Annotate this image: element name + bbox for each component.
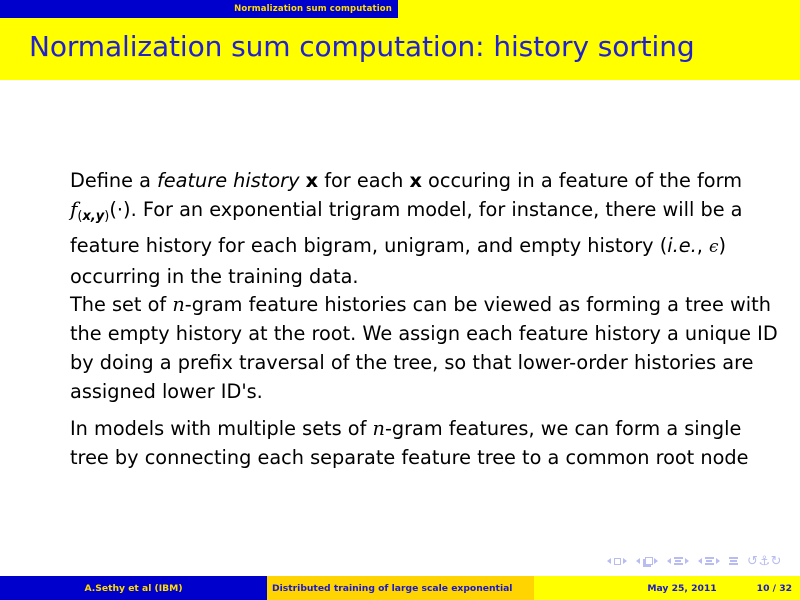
beamer-navigation-symbols[interactable]: ↺⚓↻: [607, 552, 782, 570]
section-icon[interactable]: [705, 557, 714, 565]
p2-prefix: The set of: [70, 293, 172, 316]
slide-icon[interactable]: [614, 558, 621, 565]
p1-prefix: Define a: [70, 169, 157, 192]
headline-bar: Normalization sum computation: [0, 0, 800, 18]
subsection-icon[interactable]: [674, 557, 683, 565]
previous-slide-icon[interactable]: [607, 558, 611, 564]
footer-page-number: 10 / 32: [757, 583, 792, 594]
footer-date: May 25, 2011: [647, 583, 716, 594]
p2-var-n: n: [172, 293, 184, 316]
footer-meta: May 25, 2011 10 / 32: [534, 576, 800, 600]
presentation-icon[interactable]: [729, 557, 738, 565]
p1-term-ie: i.e.: [667, 234, 696, 257]
p1-sub-vars: x,y: [82, 209, 104, 224]
p1-mid-4: . For an exponential trigram model, for …: [70, 198, 743, 257]
subsection-navigation-group[interactable]: [667, 557, 689, 565]
page-title: Normalization sum computation: history s…: [29, 30, 695, 63]
next-subsection-icon[interactable]: [685, 558, 689, 564]
p1-math-argument: (·): [109, 198, 130, 221]
back-and-forward-icon[interactable]: ↺⚓↻: [747, 555, 782, 568]
p1-math-subscript: (x,y): [77, 209, 109, 224]
presentation-navigation-group[interactable]: [729, 557, 738, 565]
frame-icon[interactable]: [643, 557, 652, 566]
p1-mid-3: occuring in a feature of the form: [422, 169, 742, 192]
frame-navigation-group[interactable]: [636, 557, 658, 566]
paragraph-definition: Define a feature history x for each x oc…: [70, 166, 778, 291]
previous-subsection-icon[interactable]: [667, 558, 671, 564]
footer-short-title: Distributed training of large scale expo…: [267, 576, 534, 600]
p1-mid-2: for each: [318, 169, 409, 192]
p3-prefix: In models with multiple sets of: [70, 417, 373, 440]
p1-term-feature-history: feature history: [157, 169, 299, 192]
p1-var-x-1: x: [306, 169, 318, 192]
footline: A.Sethy et al (IBM) Distributed training…: [0, 576, 800, 600]
p3-var-n: n: [373, 417, 385, 440]
slide-navigation-group[interactable]: [607, 558, 627, 565]
headline-bar-active-section[interactable]: Normalization sum computation: [0, 0, 398, 18]
footer-author: A.Sethy et al (IBM): [0, 576, 267, 600]
next-slide-icon[interactable]: [623, 558, 627, 564]
next-frame-icon[interactable]: [654, 558, 658, 564]
p1-epsilon-symbol: ϵ: [709, 237, 719, 257]
frame-title-band: Normalization sum computation: history s…: [0, 18, 800, 80]
section-navigation-group[interactable]: [698, 557, 720, 565]
paragraph-tree-structure: The set of n-gram feature histories can …: [70, 290, 778, 406]
previous-frame-icon[interactable]: [636, 558, 640, 564]
previous-section-icon[interactable]: [698, 558, 702, 564]
slide-body: Define a feature history x for each x oc…: [0, 80, 800, 545]
section-title-label: Normalization sum computation: [0, 0, 392, 18]
p1-mid-5: ,: [697, 234, 709, 257]
p1-var-x-2: x: [409, 169, 421, 192]
next-section-icon[interactable]: [716, 558, 720, 564]
paragraph-multiple-sets: In models with multiple sets of n-gram f…: [70, 414, 778, 472]
